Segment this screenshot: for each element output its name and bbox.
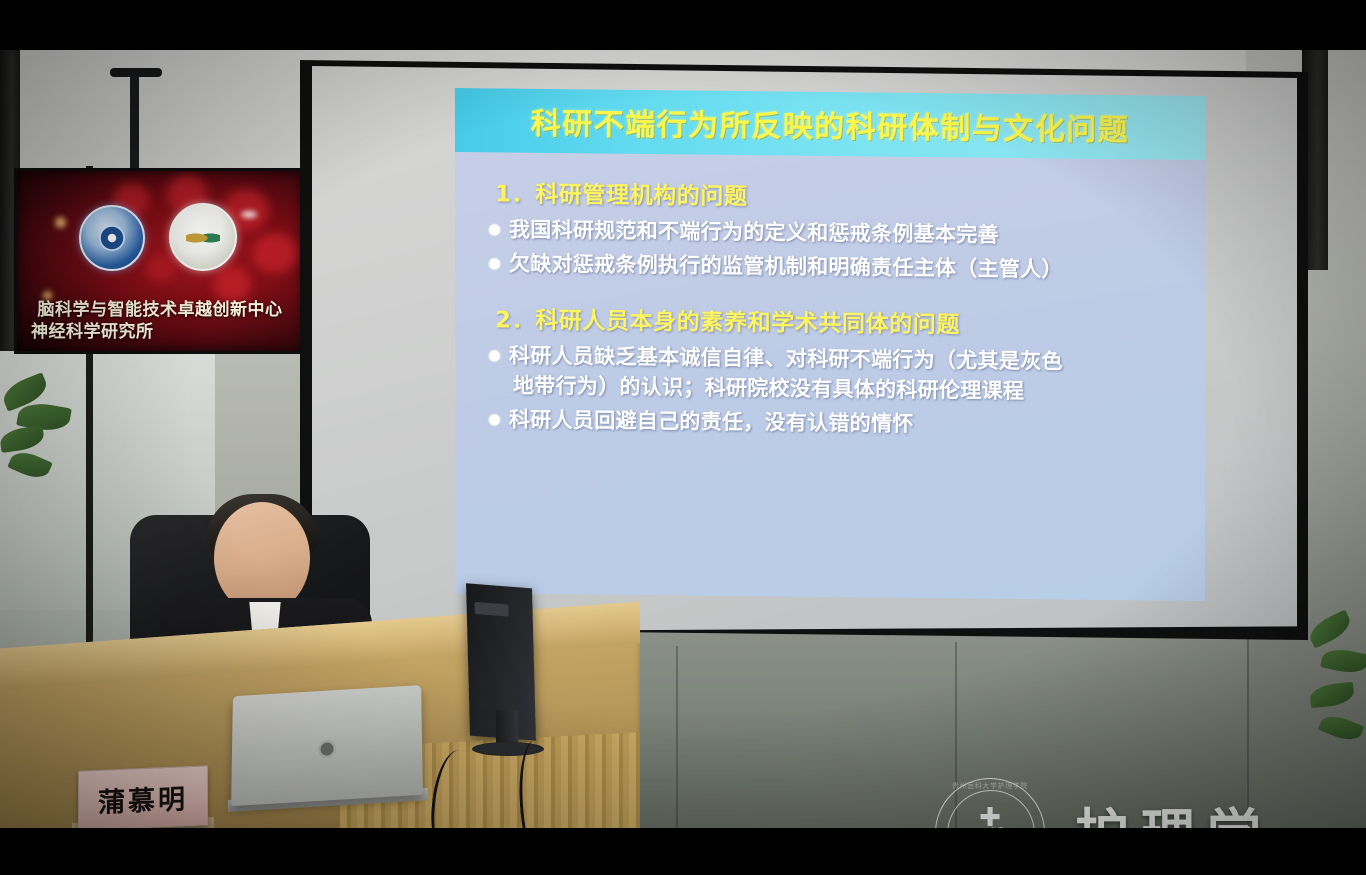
slide-bullet-text: 科研人员缺乏基本诚信自律、对科研不端行为（尤其是灰色 地带行为）的认识；科研院校… [509,341,1063,407]
nursing-school-seal-icon: 贵州医科大学护理学院 ✚ 🕊 1938 NURSING SCHOOL OF GU… [935,778,1045,828]
bokeh-light [55,217,66,228]
plant-leaf [1320,645,1366,676]
plant-leaf [1318,711,1364,745]
lecture-room-scene: 脑科学与智能技术卓越创新中心 神经科学研究所 科研不端行为所反映的科研体制与文化… [0,50,1366,828]
cas-academy-logo-icon [79,205,145,271]
slide-title-bar: 科研不端行为所反映的科研体制与文化问题 [455,88,1205,160]
plant-leaf [1309,682,1355,708]
slide-body: 1．科研管理机构的问题 我国科研规范和不端行为的定义和惩戒条例基本完善 欠缺对惩… [455,152,1205,446]
video-frame: 脑科学与智能技术卓越创新中心 神经科学研究所 科研不端行为所反映的科研体制与文化… [0,0,1366,875]
letterbox-top [0,0,1366,50]
slide-title: 科研不端行为所反映的科研体制与文化问题 [531,99,1130,149]
projection-screen: 科研不端行为所反映的科研体制与文化问题 1．科研管理机构的问题 我国科研规范和不… [312,66,1297,632]
slide-bullet-text: 科研人员回避自己的责任，没有认错的情怀 [509,405,914,439]
bullet-dot-icon [489,414,500,425]
letterbox-bottom [0,828,1366,875]
banner-text: 脑科学与智能技术卓越创新中心 神经科学研究所 [17,299,303,343]
banner-line-1: 脑科学与智能技术卓越创新中心 [17,299,303,321]
bokeh-light [241,211,257,218]
potted-plant [0,370,90,540]
bullet-dot-icon [489,224,500,235]
bullet-dot-icon [489,350,500,361]
bokeh-light [145,255,175,283]
wall-panel-seam [676,646,678,828]
slide-section-heading-2: 2．科研人员本身的素养和学术共同体的问题 [495,300,1191,342]
plant-leaf [7,447,52,483]
slide-bullet: 欠缺对惩戒条例执行的监管机制和明确责任主体（主管人） [489,248,1191,286]
slide-bullet-text-line2: 地带行为）的认识；科研院校没有具体的科研伦理课程 [509,371,1063,407]
laptop-brand-logo-icon [318,740,335,758]
slide-bullet-text-line1: 科研人员缺乏基本诚信自律、对科研不端行为（尤其是灰色 [509,344,1063,374]
bokeh-light [213,267,251,303]
plant-leaf [1305,609,1354,648]
slide-bullet-text: 欠缺对惩戒条例执行的监管机制和明确责任主体（主管人） [509,249,1063,285]
projector-mount-arm [130,76,139,168]
slide-bullet-text: 我国科研规范和不端行为的定义和惩戒条例基本完善 [509,215,999,250]
slide-bullet: 科研人员缺乏基本诚信自律、对科研不端行为（尤其是灰色 地带行为）的认识；科研院校… [489,340,1191,408]
monitor-rear-badge [474,602,508,617]
speaker-nameplate: 蒲慕明 [78,765,208,828]
laptop[interactable] [231,685,423,806]
institute-banner: 脑科学与智能技术卓越创新中心 神经科学研究所 [14,168,306,354]
speaker-name: 蒲慕明 [98,777,188,820]
slide-section-heading-1: 1．科研管理机构的问题 [495,174,1191,216]
slide-bullet: 科研人员回避自己的责任，没有认错的情怀 [489,404,1191,442]
slide-bullet: 我国科研规范和不端行为的定义和惩戒条例基本完善 [489,214,1191,252]
bullet-dot-icon [489,258,500,269]
medical-cross-icon: ✚ [979,805,1001,828]
ion-institute-logo-icon [169,203,237,271]
watermark-chinese-title: 护理学院 [1075,790,1335,828]
plant-leaf [0,425,45,453]
banner-line-2: 神经科学研究所 [17,321,303,343]
channel-watermark: 贵州医科大学护理学院 ✚ 🕊 1938 NURSING SCHOOL OF GU… [935,778,1335,828]
bokeh-light [253,233,297,273]
presentation-slide: 科研不端行为所反映的科研体制与文化问题 1．科研管理机构的问题 我国科研规范和不… [455,88,1205,601]
